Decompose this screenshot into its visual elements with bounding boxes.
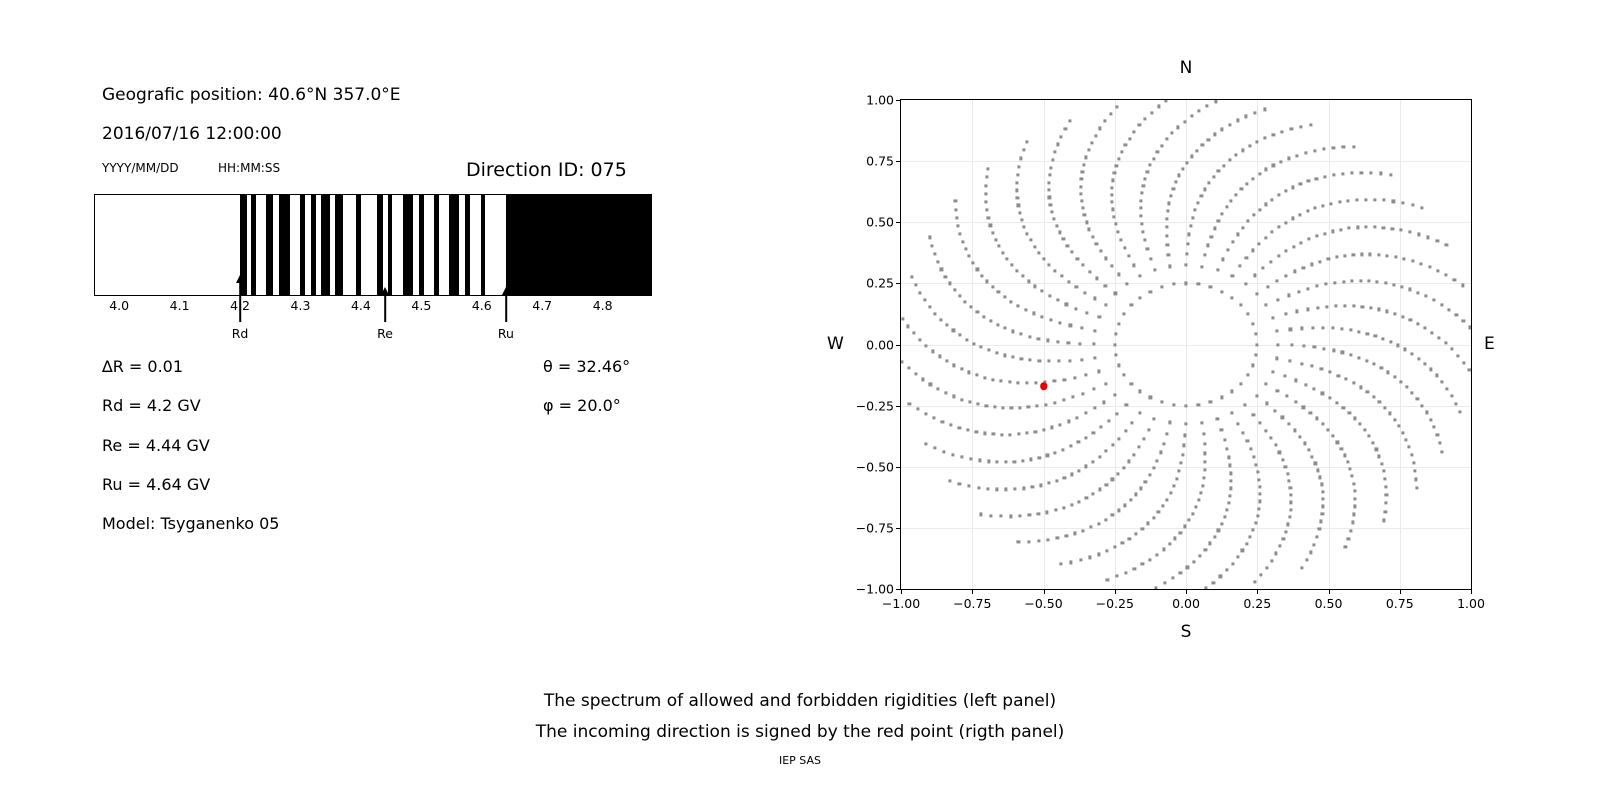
- direction-dot: [1085, 465, 1088, 468]
- direction-dot: [970, 305, 973, 308]
- direction-dot: [1114, 292, 1117, 295]
- direction-dot: [1062, 399, 1065, 402]
- direction-dot: [1081, 207, 1084, 210]
- direction-dot: [952, 364, 955, 367]
- direction-dot: [1352, 382, 1355, 385]
- direction-dot: [1323, 175, 1326, 178]
- direction-dot: [1016, 181, 1019, 184]
- direction-dot: [1393, 375, 1396, 378]
- direction-dot: [1184, 434, 1187, 437]
- direction-dot: [1032, 312, 1035, 315]
- direction-dot: [1332, 349, 1335, 352]
- spectrum-tick-label: 4.5: [411, 298, 431, 313]
- param-rd: Rd = 4.2 GV: [102, 396, 201, 415]
- direction-dot: [1189, 224, 1192, 227]
- direction-dot: [1310, 365, 1313, 368]
- direction-dot: [1303, 442, 1306, 445]
- direction-dot: [1185, 252, 1188, 255]
- direction-dot: [1117, 273, 1120, 276]
- direction-dot: [1230, 296, 1233, 299]
- direction-dot: [1229, 472, 1232, 475]
- direction-dot: [1417, 357, 1420, 360]
- direction-dot: [1258, 242, 1261, 245]
- direction-dot: [1220, 290, 1223, 293]
- direction-dot: [1201, 484, 1204, 487]
- direction-dot: [1259, 421, 1262, 424]
- direction-dot: [1315, 417, 1318, 420]
- direction-dot: [1253, 580, 1256, 583]
- figure-root: Geografic position: 40.6°N 357.0°E 2016/…: [0, 0, 1600, 800]
- annotation-arrowhead-re: [381, 287, 389, 295]
- direction-dot: [1213, 227, 1216, 230]
- direction-dot: [1008, 381, 1011, 384]
- direction-dot: [1228, 123, 1231, 126]
- direction-dot: [1140, 222, 1143, 225]
- direction-dot: [1264, 236, 1267, 239]
- direction-dot: [1072, 396, 1075, 399]
- direction-dot: [1027, 406, 1030, 409]
- direction-dot: [1387, 371, 1390, 374]
- direction-dot: [1444, 342, 1447, 345]
- direction-dot: [1104, 518, 1107, 521]
- direction-dot: [1333, 281, 1336, 284]
- y-tick-mark: [896, 161, 900, 162]
- direction-dot: [1024, 308, 1027, 311]
- direction-dot: [987, 216, 990, 219]
- direction-dot: [1015, 189, 1018, 192]
- direction-dot: [1400, 285, 1403, 288]
- direction-dot: [1125, 403, 1128, 406]
- direction-dot: [1277, 226, 1280, 229]
- direction-dot: [1133, 567, 1136, 570]
- spectrum-tick-label: 4.7: [532, 298, 552, 313]
- direction-dot: [959, 233, 962, 236]
- direction-dot: [1307, 180, 1310, 183]
- direction-dot: [1302, 266, 1305, 269]
- direction-dot: [954, 199, 957, 202]
- y-tick-label: 0.50: [866, 215, 894, 230]
- direction-dot: [1169, 265, 1172, 268]
- direction-dot: [1309, 123, 1312, 126]
- direction-dot: [1421, 206, 1424, 209]
- direction-dot: [1127, 255, 1130, 258]
- direction-dot: [1432, 298, 1435, 301]
- direction-dot: [1147, 428, 1150, 431]
- direction-dot: [1142, 437, 1145, 440]
- direction-dot: [1304, 383, 1307, 386]
- direction-dot: [1172, 283, 1175, 286]
- direction-dot: [1172, 187, 1175, 190]
- direction-dot: [1359, 279, 1362, 282]
- spectrum-tick-label: 4.1: [170, 298, 190, 313]
- direction-dot: [1455, 402, 1458, 405]
- direction-dot: [1288, 479, 1291, 482]
- direction-dot: [1095, 277, 1098, 280]
- direction-dot: [1069, 561, 1072, 564]
- direction-dot: [1026, 232, 1029, 235]
- direction-dot: [1037, 512, 1040, 515]
- direction-dot: [1167, 253, 1170, 256]
- direction-dot: [1099, 127, 1102, 130]
- direction-dot: [1034, 285, 1037, 288]
- direction-dot: [1186, 566, 1189, 569]
- direction-dot: [1048, 294, 1051, 297]
- direction-dot: [1144, 177, 1147, 180]
- direction-dot: [1098, 316, 1101, 319]
- direction-dot: [1231, 274, 1234, 277]
- direction-dot: [1264, 303, 1267, 306]
- direction-dot: [1165, 138, 1168, 141]
- direction-dot: [1265, 402, 1268, 405]
- direction-dot: [941, 420, 944, 423]
- direction-dot: [1110, 200, 1113, 203]
- direction-dot: [1257, 507, 1260, 510]
- direction-dot: [1049, 318, 1052, 321]
- y-tick-label: 0.75: [866, 154, 894, 169]
- direction-dot: [1445, 274, 1448, 277]
- direction-dot: [1377, 253, 1380, 256]
- direction-dot: [1054, 451, 1057, 454]
- direction-dot: [1034, 430, 1037, 433]
- direction-dot: [1304, 151, 1307, 154]
- direction-dot: [1258, 500, 1261, 503]
- direction-dot: [1053, 401, 1056, 404]
- direction-dot: [1165, 225, 1168, 228]
- direction-dot: [1429, 418, 1432, 421]
- direction-dot: [1019, 157, 1022, 160]
- direction-dot: [1400, 228, 1403, 231]
- direction-dot: [1152, 516, 1155, 519]
- direction-dot: [916, 407, 919, 410]
- annotation-arrow-ru: [505, 294, 507, 322]
- direction-dot: [1124, 144, 1127, 147]
- direction-dot: [1064, 127, 1067, 130]
- direction-dot: [1229, 479, 1232, 482]
- forbidden-band: [434, 195, 439, 295]
- direction-dot: [1161, 504, 1164, 507]
- direction-dot: [1041, 290, 1044, 293]
- compass-south-label: S: [1181, 622, 1192, 642]
- direction-dot: [1309, 411, 1312, 414]
- direction-dot: [1353, 489, 1356, 492]
- direction-dot: [1009, 515, 1012, 518]
- direction-map-panel: N S W E −1.00−0.75−0.50−0.250.000.250.50…: [790, 0, 1600, 700]
- direction-dot: [1292, 245, 1295, 248]
- direction-dot: [1197, 403, 1200, 406]
- direction-dot: [1220, 396, 1223, 399]
- x-tick-mark: [1115, 590, 1116, 594]
- direction-dot: [1261, 267, 1264, 270]
- direction-dot: [1453, 278, 1456, 281]
- direction-dot: [1378, 400, 1381, 403]
- direction-dot: [997, 291, 1000, 294]
- direction-dot: [1149, 396, 1152, 399]
- direction-dot: [1256, 514, 1259, 517]
- direction-dot: [1062, 506, 1065, 509]
- direction-dot: [1254, 521, 1257, 524]
- direction-dot: [1183, 120, 1186, 123]
- direction-dot: [1374, 334, 1377, 337]
- direction-dot: [1202, 476, 1205, 479]
- direction-dot: [1386, 254, 1389, 257]
- direction-dot: [1341, 351, 1344, 354]
- compass-north-label: N: [1180, 58, 1193, 78]
- direction-dot: [1229, 487, 1232, 490]
- direction-dot: [1352, 482, 1355, 485]
- direction-dot: [1029, 239, 1032, 242]
- direction-dot: [1020, 357, 1023, 360]
- y-tick-label: 0.25: [866, 276, 894, 291]
- direction-dot: [1204, 460, 1207, 463]
- direction-dot: [1307, 287, 1310, 290]
- direction-dot: [1349, 467, 1352, 470]
- direction-dot: [1226, 249, 1229, 252]
- direction-dot: [1119, 238, 1122, 241]
- direction-dot: [1264, 383, 1267, 386]
- direction-dot: [1344, 304, 1347, 307]
- direction-dot: [1286, 472, 1289, 475]
- direction-dot: [1251, 249, 1254, 252]
- x-tick-label: 0.25: [1243, 596, 1271, 611]
- direction-dot: [1184, 282, 1187, 285]
- direction-dot: [1272, 133, 1275, 136]
- direction-dot: [1140, 214, 1143, 217]
- direction-dot: [1272, 164, 1275, 167]
- direction-dot: [1163, 581, 1166, 584]
- direction-dot: [1281, 416, 1284, 419]
- direction-dot: [1091, 235, 1094, 238]
- direction-dot: [1130, 382, 1133, 385]
- direction-dot: [1197, 109, 1200, 112]
- direction-dot: [1085, 373, 1088, 376]
- direction-dot: [1411, 391, 1414, 394]
- direction-dot: [1325, 283, 1328, 286]
- direction-dot: [1069, 324, 1072, 327]
- direction-dot: [1138, 445, 1141, 448]
- direction-dot: [1321, 490, 1324, 493]
- direction-dot: [1352, 145, 1355, 148]
- direction-dot: [1420, 262, 1423, 265]
- direction-dot: [1025, 382, 1028, 385]
- direction-dot: [984, 193, 987, 196]
- direction-dot: [928, 236, 931, 239]
- direction-dot: [1382, 226, 1385, 229]
- direction-dot: [1114, 394, 1117, 397]
- direction-dot: [1405, 438, 1408, 441]
- direction-dot: [1359, 422, 1362, 425]
- direction-dot: [1117, 472, 1120, 475]
- direction-dot: [1385, 502, 1388, 505]
- direction-dot: [1284, 313, 1287, 316]
- direction-dot: [1316, 285, 1319, 288]
- direction-dot: [1293, 270, 1296, 273]
- direction-dot: [1234, 154, 1237, 157]
- direction-dot: [1284, 530, 1287, 533]
- direction-dot: [1104, 382, 1107, 385]
- direction-dot: [1117, 158, 1120, 161]
- direction-dot: [1289, 508, 1292, 511]
- direction-dot: [1079, 559, 1082, 562]
- direction-dot: [1033, 245, 1036, 248]
- direction-dot: [1255, 463, 1258, 466]
- compass-east-label: E: [1484, 334, 1495, 354]
- direction-dot: [1348, 411, 1351, 414]
- direction-dot: [1357, 330, 1360, 333]
- direction-dot: [1331, 230, 1334, 233]
- direction-dot: [980, 274, 983, 277]
- direction-dot: [1249, 535, 1252, 538]
- direction-dot: [1017, 381, 1020, 384]
- direction-dot: [1313, 149, 1316, 152]
- direction-dot: [1446, 387, 1449, 390]
- forbidden-band: [356, 195, 361, 295]
- direction-dot: [1256, 140, 1259, 143]
- direction-dot: [1275, 329, 1278, 332]
- direction-dot: [936, 260, 939, 263]
- direction-dot: [1284, 375, 1287, 378]
- direction-dot: [1170, 132, 1173, 135]
- forbidden-band: [279, 195, 290, 295]
- direction-dot: [1123, 312, 1126, 315]
- direction-dot: [1273, 409, 1276, 412]
- direction-dot: [1004, 460, 1007, 463]
- direction-dot: [1188, 233, 1191, 236]
- direction-dot: [1217, 219, 1220, 222]
- forbidden-band: [266, 195, 273, 295]
- direction-dot: [1230, 412, 1233, 415]
- direction-dot: [1415, 478, 1418, 481]
- direction-dot: [975, 374, 978, 377]
- direction-dot: [1054, 509, 1057, 512]
- direction-dot: [954, 208, 957, 211]
- direction-dot: [1080, 199, 1083, 202]
- direction-dot: [1212, 581, 1215, 584]
- direction-dot: [1246, 440, 1249, 443]
- direction-dot: [1277, 194, 1280, 197]
- direction-dot: [1225, 205, 1228, 208]
- direction-dot: [1349, 529, 1352, 532]
- direction-dot: [1276, 279, 1279, 282]
- direction-dot: [934, 312, 937, 315]
- direction-dot: [968, 371, 971, 374]
- direction-dot: [1018, 406, 1021, 409]
- direction-dot: [1185, 264, 1188, 267]
- direction-dot: [1047, 181, 1050, 184]
- direction-dot: [1017, 304, 1020, 307]
- direction-dot: [1458, 410, 1461, 413]
- x-tick-label: −0.50: [1024, 596, 1062, 611]
- direction-dot: [1321, 497, 1324, 500]
- direction-dot: [1287, 422, 1290, 425]
- direction-dot: [1278, 545, 1281, 548]
- direction-dot: [1352, 305, 1355, 308]
- direction-dot: [1227, 456, 1230, 459]
- direction-dot: [1060, 275, 1063, 278]
- direction-dot: [1270, 559, 1273, 562]
- direction-dot: [1264, 203, 1267, 206]
- direction-dot: [1300, 241, 1303, 244]
- direction-dot: [1047, 538, 1050, 541]
- direction-dot: [1279, 160, 1282, 163]
- direction-dot: [940, 268, 943, 271]
- direction-dot: [1316, 469, 1319, 472]
- direction-dot: [1380, 367, 1383, 370]
- direction-dot: [1144, 480, 1147, 483]
- direction-dot: [1254, 111, 1257, 114]
- direction-dot: [1256, 343, 1259, 346]
- direction-dot: [1166, 209, 1169, 212]
- direction-dot: [1436, 269, 1439, 272]
- direction-dot: [993, 405, 996, 408]
- direction-dot: [1287, 523, 1290, 526]
- direction-dot: [1436, 239, 1439, 242]
- direction-dot: [1111, 514, 1114, 517]
- direction-dot: [1383, 477, 1386, 480]
- forbidden-band: [377, 195, 382, 295]
- direction-dot: [1092, 388, 1095, 391]
- direction-dot: [1156, 459, 1159, 462]
- direction-dot: [1001, 406, 1004, 409]
- direction-dot: [945, 324, 948, 327]
- annotation-label-rd: Rd: [232, 326, 249, 341]
- direction-dot: [976, 310, 979, 313]
- direction-dot: [1346, 461, 1349, 464]
- direction-dot: [1236, 233, 1239, 236]
- direction-dot: [1318, 528, 1321, 531]
- direction-dot: [1000, 380, 1003, 383]
- direction-dot: [977, 486, 980, 489]
- direction-dot: [1337, 374, 1340, 377]
- direction-dot: [1270, 198, 1273, 201]
- direction-dot: [1037, 540, 1040, 543]
- direction-dot: [1030, 458, 1033, 461]
- direction-dot: [1073, 532, 1076, 535]
- direction-dot: [1329, 371, 1332, 374]
- direction-dot: [1365, 359, 1368, 362]
- direction-dot: [1094, 134, 1097, 137]
- direction-dot: [1111, 186, 1114, 189]
- direction-dot: [1036, 405, 1039, 408]
- x-tick-mark: [1186, 590, 1187, 594]
- direction-dot: [1021, 275, 1024, 278]
- direction-dot: [982, 315, 985, 318]
- direction-dot: [1318, 476, 1321, 479]
- forbidden-band: [506, 195, 651, 295]
- direction-dot: [1206, 104, 1209, 107]
- direction-dot: [1078, 342, 1081, 345]
- direction-dot: [1323, 232, 1326, 235]
- direction-dot: [907, 366, 910, 369]
- direction-dot: [1401, 201, 1404, 204]
- direction-dot: [1124, 430, 1127, 433]
- direction-dot: [1087, 148, 1090, 151]
- direction-dot: [968, 255, 971, 258]
- direction-dot: [1171, 576, 1174, 579]
- direction-dot: [1069, 445, 1072, 448]
- direction-dot: [923, 299, 926, 302]
- direction-dot: [1294, 400, 1297, 403]
- direction-dot: [1353, 513, 1356, 516]
- annotation-label-ru: Ru: [498, 326, 514, 341]
- direction-dot: [1121, 541, 1124, 544]
- direction-dot: [1083, 291, 1086, 294]
- direction-dot: [1019, 333, 1022, 336]
- direction-dot: [1319, 260, 1322, 263]
- direction-dot: [1348, 227, 1351, 230]
- direction-dot: [1316, 306, 1319, 309]
- direction-dot: [984, 184, 987, 187]
- direction-dot: [1186, 242, 1189, 245]
